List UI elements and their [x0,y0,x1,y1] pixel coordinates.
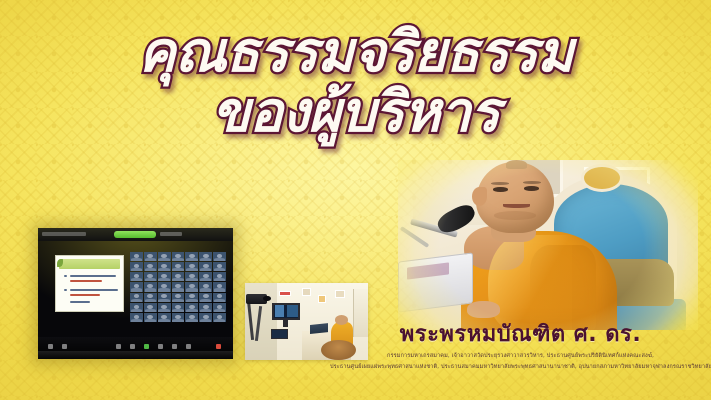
participant-tile [199,252,212,261]
participant-tile [172,252,185,261]
monk-portrait-photo [398,160,698,330]
participant-tile [185,282,198,291]
title-line-2: ของผู้บริหาร [0,86,711,140]
photo-edge-fade [398,160,698,330]
participant-tile [130,252,143,261]
slide-title-banner [59,259,120,269]
chat-icon [130,344,135,349]
zoom-top-toolbar [38,228,233,241]
participant-tile [213,272,226,281]
participant-tile [130,313,143,322]
participant-video-grid [130,252,226,322]
participant-tile [213,303,226,312]
participant-tile [213,282,226,291]
participant-tile [158,293,171,302]
participant-tile [158,282,171,291]
participant-tile [144,282,157,291]
speaker-credit-block: พระพรหมบัณฑิต ศ. ดร. กรรมการมหาเถรสมาคม,… [330,316,711,372]
participant-tile [144,313,157,322]
wall-frame [335,290,345,298]
participant-tile [172,293,185,302]
participant-tile [185,313,198,322]
poster-canvas: คุณธรรมจริยธรรม ของผู้บริหาร [0,0,711,400]
share-screen-icon [144,344,149,349]
recording-indicator-badge [114,231,156,238]
participant-tile [158,252,171,261]
record-icon [158,344,163,349]
participant-tile [199,313,212,322]
participant-tile [199,303,212,312]
studio-laptop [310,323,328,334]
zoom-meeting-screenshot [38,228,233,359]
monitor-preview-left [275,305,285,317]
participant-tile [172,262,185,271]
monitor-stand [283,320,288,327]
participant-tile [144,272,157,281]
participant-tile [130,303,143,312]
participants-icon [116,344,121,349]
participant-tile [172,313,185,322]
slide-bullet-number [64,275,67,277]
participant-tile [144,293,157,302]
participant-tile [213,252,226,261]
participant-tile [199,293,212,302]
participant-tile [130,272,143,281]
slide-text-line [70,294,100,296]
participant-tile [213,262,226,271]
participant-tile [158,313,171,322]
slide-text-line [70,280,102,282]
slide-bullet-number [64,289,67,291]
speaker-credential-line-1: กรรมการมหาเถรสมาคม, เจ้าอาวาสวัดประยุรวง… [330,351,711,362]
presentation-slide [55,255,124,312]
zoom-meeting-info [42,232,86,236]
participant-tile [158,272,171,281]
studio-monitor-secondary [271,329,288,339]
mute-icon [48,344,53,349]
title-line-1: คุณธรรมจริยธรรม [0,26,711,80]
participant-tile [213,293,226,302]
monitor-preview-right [287,305,298,317]
video-icon [62,344,67,349]
speaker-credential-line-2: ประธานศูนย์เผยแผ่พระพุทธศาสนาแห่งชาติ, ป… [330,362,711,373]
participant-tile [185,303,198,312]
recording-label [160,232,182,236]
screen-reflection [38,351,233,359]
participant-tile [185,293,198,302]
wall-poster [279,291,290,296]
slide-text-line [70,289,118,291]
participant-tile [158,303,171,312]
participant-tile [144,303,157,312]
slide-text-line [70,301,90,303]
participant-tile [130,262,143,271]
wall-frame [318,295,327,303]
participant-tile [172,272,185,281]
participant-tile [144,252,157,261]
participant-tile [185,252,198,261]
participant-tile [185,272,198,281]
participant-tile [158,262,171,271]
reactions-icon [172,344,177,349]
wall-frame [302,288,312,296]
participant-tile [130,282,143,291]
participant-tile [199,272,212,281]
participant-tile [172,282,185,291]
more-options-icon [186,344,191,349]
participant-tile [144,262,157,271]
participant-tile [213,313,226,322]
page-title: คุณธรรมจริยธรรม ของผู้บริหาร [0,26,711,140]
speaker-name: พระพรหมบัณฑิต ศ. ดร. [330,316,711,351]
leave-meeting-button [216,344,221,349]
participant-tile [172,303,185,312]
participant-tile [199,282,212,291]
slide-text-line [70,275,116,277]
participant-tile [130,293,143,302]
participant-tile [185,262,198,271]
participant-tile [199,262,212,271]
